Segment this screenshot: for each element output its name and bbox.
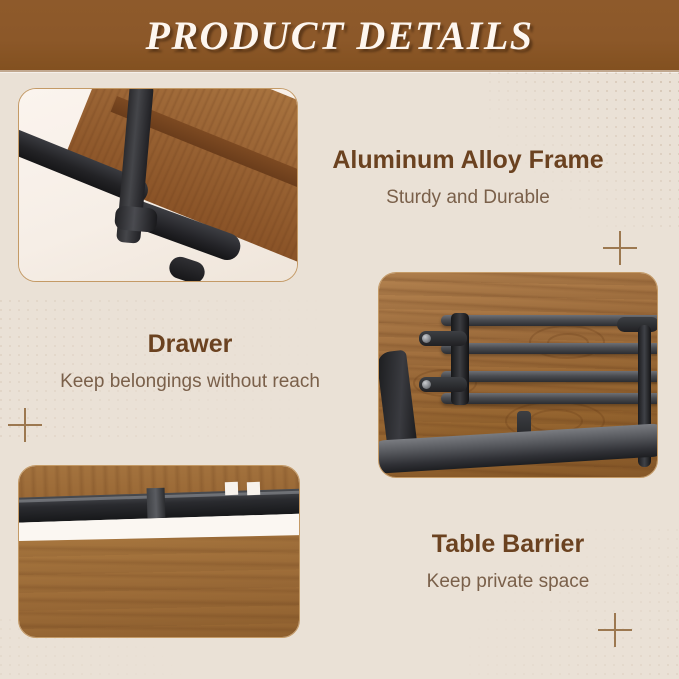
- feature-image-drawer: [18, 465, 300, 638]
- page-title: PRODUCT DETAILS: [145, 16, 533, 56]
- drawer-rail-bracket: [147, 488, 166, 519]
- feature-subtitle: Keep private space: [348, 571, 668, 594]
- plus-mark-icon: [598, 613, 632, 647]
- barrier-bracket-right: [617, 317, 657, 332]
- feature-subtitle: Keep belongings without reach: [20, 371, 360, 394]
- header-banner: PRODUCT DETAILS: [0, 0, 679, 72]
- barrier-rail: [441, 393, 657, 404]
- feature-image-table-barrier: [378, 272, 658, 478]
- product-details-infographic: PRODUCT DETAILS Aluminum Alloy Frame Stu…: [0, 0, 679, 679]
- feature-text-table-barrier: Table Barrier Keep private space: [348, 530, 668, 594]
- banner-underline: [0, 70, 679, 73]
- plus-mark-icon: [8, 408, 42, 442]
- feature-text-aluminum-alloy-frame: Aluminum Alloy Frame Sturdy and Durable: [312, 146, 624, 210]
- photo-drawer: [19, 466, 299, 637]
- photo-aluminum-alloy-frame: [19, 89, 297, 281]
- photo-table-barrier: [379, 273, 657, 477]
- drawer-front-panel: [19, 535, 299, 637]
- feature-title: Drawer: [20, 330, 360, 359]
- barrier-bracket: [419, 377, 467, 392]
- barrier-bracket: [419, 331, 467, 346]
- bolt-icon: [422, 380, 431, 389]
- drawer-rail-slot: [225, 482, 238, 495]
- bolt-icon: [422, 334, 431, 343]
- feature-text-drawer: Drawer Keep belongings without reach: [20, 330, 360, 394]
- feature-title: Aluminum Alloy Frame: [312, 146, 624, 175]
- feature-title: Table Barrier: [348, 530, 668, 559]
- barrier-rail: [441, 343, 657, 354]
- feature-image-aluminum-alloy-frame: [18, 88, 298, 282]
- table-leg-collar: [114, 205, 158, 233]
- feature-subtitle: Sturdy and Durable: [312, 187, 624, 210]
- drawer-rail-slot: [247, 482, 260, 495]
- plus-mark-icon: [603, 231, 637, 265]
- barrier-rail: [441, 371, 657, 382]
